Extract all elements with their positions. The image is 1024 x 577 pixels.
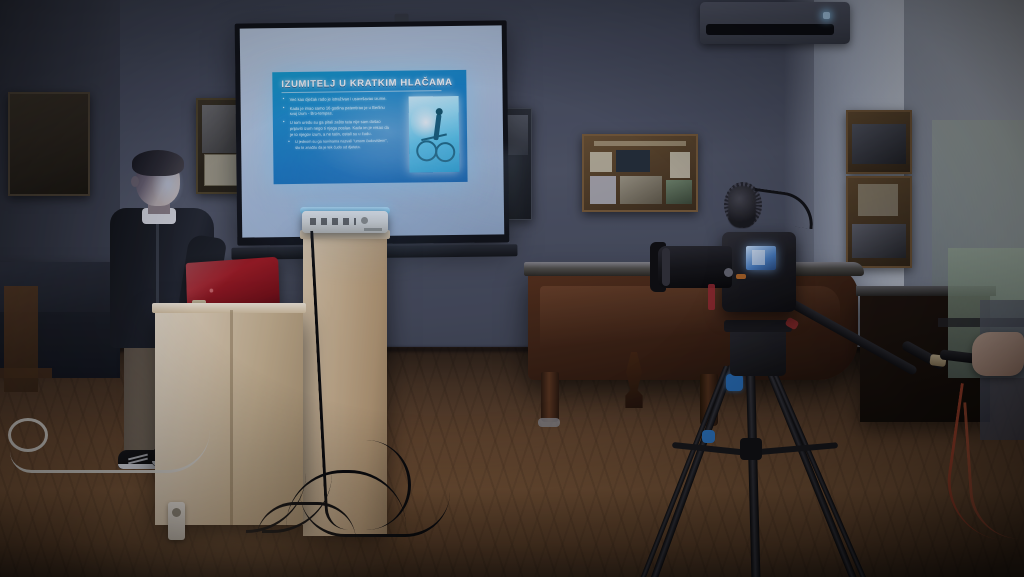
microphone-cable [750, 188, 817, 229]
lens-focus-ring[interactable] [662, 248, 670, 286]
chair-seat [0, 368, 52, 378]
camera-strap-tag [708, 284, 715, 310]
slide-bullet-list: Već kao dječak rado je istraživao i usav… [283, 96, 394, 154]
tripod-fluid-head[interactable] [730, 328, 786, 376]
tripod-leg-right-inner [769, 365, 893, 577]
cyclist-head [436, 108, 443, 115]
camera-control-button[interactable] [724, 268, 733, 277]
board-document-1 [590, 152, 612, 172]
board-title-strip [594, 141, 686, 146]
projector-ports [310, 218, 356, 225]
wall-air-conditioner [700, 2, 850, 44]
board-document-3 [670, 152, 690, 178]
tripod-spreader-left [672, 442, 750, 456]
group-photo-area [852, 124, 906, 164]
bicycle-wheel-front [435, 142, 455, 162]
camera-body [722, 232, 796, 312]
camera-record-indicator [736, 274, 746, 279]
tripod-spreader-right [750, 442, 838, 456]
tripod-lock-lower[interactable] [702, 430, 715, 443]
camera-lcd-screen[interactable] [746, 246, 776, 270]
slide-bullet: U jednom su ga novinama nazvali "umom ču… [288, 139, 393, 151]
projector-focus-knob[interactable] [361, 217, 368, 224]
power-socket[interactable] [172, 508, 181, 517]
presenter-hair [132, 150, 184, 176]
white-extension-cord-loop [8, 418, 48, 452]
slide-title: IZUMITELJ U KRATKIM HLAČAMA [281, 77, 458, 90]
piano-caster [538, 418, 560, 427]
framed-photo-corner-upper [846, 110, 912, 174]
bicycle-wheel-rear [416, 140, 437, 161]
air-conditioner-led-icon [823, 12, 830, 19]
floor-power-strip[interactable] [168, 502, 185, 540]
floor-cable [318, 440, 411, 530]
piano-leg-front [541, 372, 559, 422]
projected-slide: IZUMITELJ U KRATKIM HLAČAMA Već kao dječ… [272, 70, 467, 184]
slide-image-cyclist [409, 96, 460, 173]
hand-holding-microphone [972, 332, 1024, 376]
tripod-lock-upper[interactable] [726, 374, 743, 391]
tripod-leg-left-inner [614, 365, 729, 577]
slide-bullet: Kada je imao samo 16 godina patentirao j… [283, 105, 393, 118]
presentation-room-scene: IZUMITELJ U KRATKIM HLAČAMA Već kao dječ… [0, 0, 1024, 577]
projector-logo [364, 228, 382, 231]
laptop-logo [209, 289, 213, 293]
video-camera-on-tripod [600, 180, 930, 577]
tripod-leg-center [746, 370, 763, 577]
tripod-spreader-hub [740, 438, 762, 460]
slide-bullet: U tom uredu su ga pitali zašto tata nije… [283, 119, 393, 137]
air-conditioner-vent [706, 24, 834, 35]
slide-bullet: Već kao dječak rado je istraživao i usav… [283, 96, 393, 103]
tripod-leg-left [626, 365, 735, 577]
memorial-plaque-left [8, 92, 90, 196]
tripod-base-plate [724, 320, 792, 332]
podium-edge [230, 310, 233, 525]
lcd-preview-image [752, 250, 765, 265]
board-document-2 [616, 150, 650, 172]
presenter-ear [131, 176, 139, 187]
